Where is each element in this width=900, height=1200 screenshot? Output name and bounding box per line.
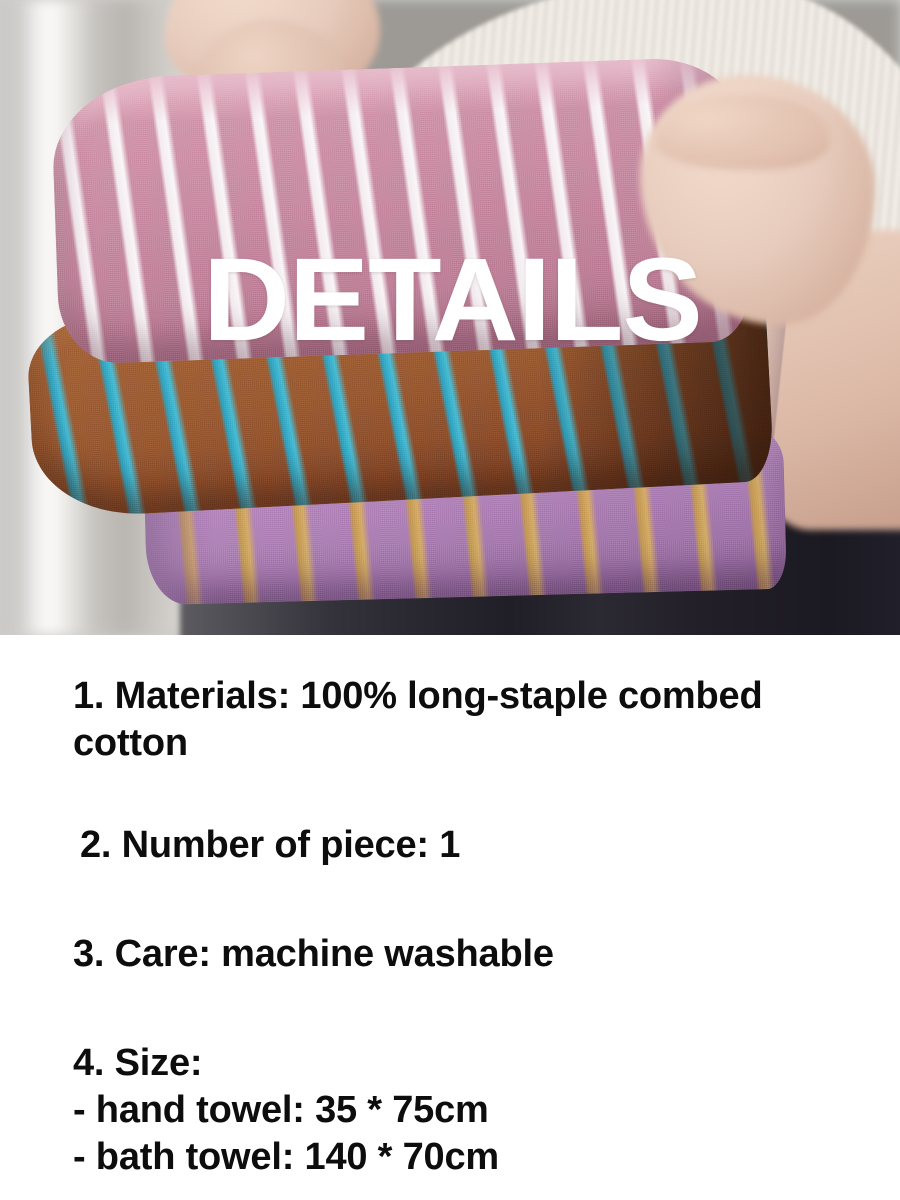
- detail-item-number-of-piece: 2. Number of piece: 1: [73, 822, 850, 869]
- right-hand-fingers: [655, 95, 830, 170]
- details-text-block: 1. Materials: 100% long-staple combed co…: [0, 635, 900, 1200]
- detail-item-size-bath-towel: - bath towel: 140 * 70cm: [73, 1134, 850, 1181]
- detail-item-materials-cont: cotton: [73, 720, 850, 767]
- detail-item-size: 4. Size:: [73, 1040, 850, 1087]
- details-headline: DETAILS: [203, 241, 702, 359]
- detail-item-care: 3. Care: machine washable: [73, 931, 850, 978]
- hero-photo: DETAILS: [0, 0, 900, 635]
- detail-item-size-hand-towel: - hand towel: 35 * 75cm: [73, 1087, 850, 1134]
- detail-item-materials: 1. Materials: 100% long-staple combed: [73, 673, 850, 720]
- product-detail-page: DETAILS 1. Materials: 100% long-staple c…: [0, 0, 900, 1200]
